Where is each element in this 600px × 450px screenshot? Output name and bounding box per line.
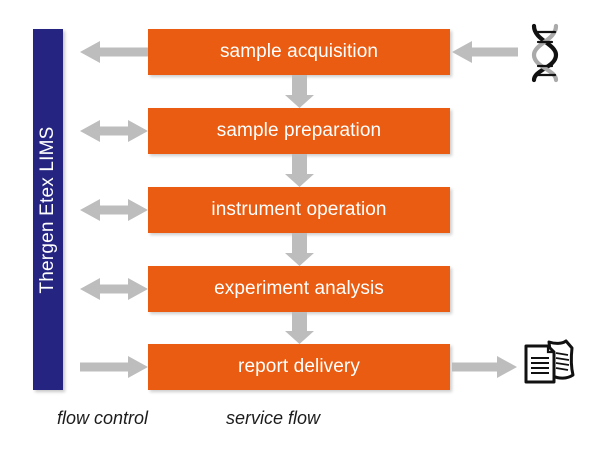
caption-flow-control: flow control: [57, 408, 148, 429]
arrow-report-delivery-to-documents: [452, 356, 517, 378]
process-box-label: sample preparation: [217, 120, 381, 142]
dna-helix-icon: [521, 22, 569, 84]
process-box-label: sample acquisition: [220, 41, 378, 63]
process-box-sample-preparation[interactable]: sample preparation: [148, 108, 450, 154]
process-box-instrument-operation[interactable]: instrument operation: [148, 187, 450, 233]
lims-bar[interactable]: Thergen Etex LIMS: [33, 29, 63, 390]
arrow-down-acquisition-to-preparation: [285, 75, 314, 108]
caption-service-flow: service flow: [226, 408, 320, 429]
diagram-canvas: Thergen Etex LIMS sample acquisition sam…: [0, 0, 600, 450]
arrow-down-instrument-to-analysis: [285, 233, 314, 266]
lims-bar-label: Thergen Etex LIMS: [37, 126, 59, 293]
process-box-label: report delivery: [238, 356, 360, 378]
arrow-lims-sample-preparation: [80, 120, 148, 142]
arrow-lims-from-sample-acquisition: [80, 41, 148, 63]
arrow-lims-instrument-operation: [80, 199, 148, 221]
process-box-experiment-analysis[interactable]: experiment analysis: [148, 266, 450, 312]
arrow-down-preparation-to-instrument: [285, 154, 314, 187]
arrow-down-analysis-to-report: [285, 312, 314, 344]
process-box-label: experiment analysis: [214, 278, 384, 300]
arrow-lims-experiment-analysis: [80, 278, 148, 300]
arrow-dna-to-sample-acquisition: [452, 41, 518, 63]
process-box-label: instrument operation: [211, 199, 386, 221]
process-box-report-delivery[interactable]: report delivery: [148, 344, 450, 390]
arrow-lims-to-report-delivery: [80, 356, 148, 378]
process-box-sample-acquisition[interactable]: sample acquisition: [148, 29, 450, 75]
documents-icon: [519, 337, 577, 389]
